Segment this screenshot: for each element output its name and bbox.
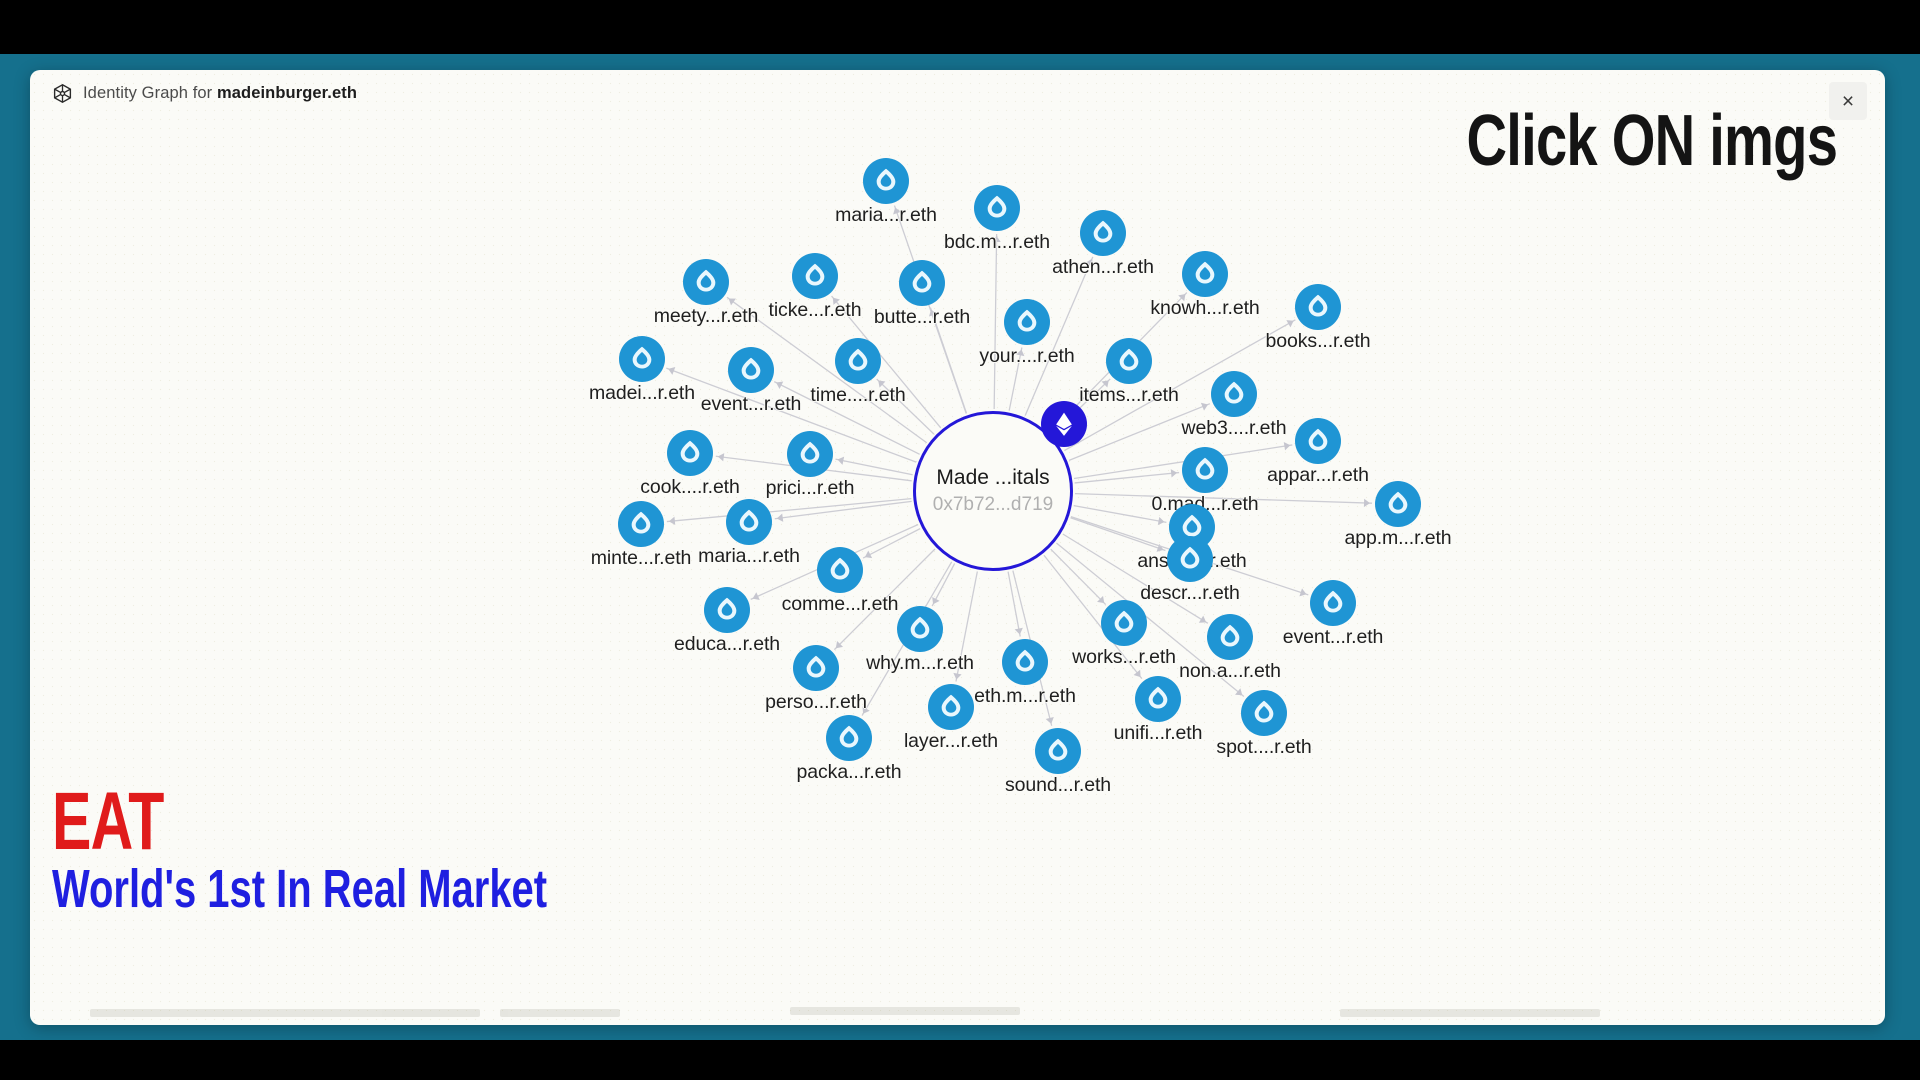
graph-node[interactable]: spot....r.eth	[1241, 690, 1287, 736]
close-glyph: ×	[1842, 91, 1854, 112]
graph-node-label: cook....r.eth	[640, 476, 740, 499]
graph-node-label: madei...r.eth	[589, 382, 695, 405]
graph-node[interactable]: sound...r.eth	[1035, 728, 1081, 774]
letterbox-bottom	[0, 1040, 1920, 1080]
ethereum-diamond-icon	[974, 185, 1020, 231]
ethereum-diamond-icon[interactable]	[792, 253, 838, 299]
graph-node[interactable]: butte...r.eth	[899, 260, 945, 306]
graph-node[interactable]: bdc.m...r.eth	[974, 185, 1020, 231]
ethereum-diamond-icon	[1375, 481, 1421, 527]
letterbox-top	[0, 0, 1920, 54]
graph-node-label: sound...r.eth	[1005, 774, 1111, 797]
ethereum-diamond-icon	[1135, 676, 1181, 722]
graph-node[interactable]: packa...r.eth	[826, 715, 872, 761]
graph-node-label: non.a...r.eth	[1179, 660, 1281, 683]
graph-node-label: athen...r.eth	[1052, 256, 1154, 279]
brand-overlay: EAT World's 1st In Real Market	[52, 784, 721, 917]
graph-node-label: perso...r.eth	[765, 691, 867, 714]
ethereum-diamond-icon[interactable]	[1207, 614, 1253, 660]
ethereum-diamond-icon	[1041, 401, 1087, 447]
ethereum-diamond-icon	[1211, 371, 1257, 417]
graph-node-label: eth.m...r.eth	[974, 685, 1076, 708]
graph-node-label: your....r.eth	[979, 345, 1074, 368]
ethereum-diamond-icon	[793, 645, 839, 691]
ethereum-diamond-icon	[1035, 728, 1081, 774]
ethereum-diamond-icon	[726, 499, 772, 545]
ethereum-diamond-icon	[667, 430, 713, 476]
ethereum-diamond-icon	[683, 259, 729, 305]
graph-node-label: event...r.eth	[1283, 626, 1384, 649]
ethereum-diamond-icon[interactable]	[1295, 284, 1341, 330]
ethereum-diamond-icon[interactable]	[826, 715, 872, 761]
ethereum-diamond-icon[interactable]	[726, 499, 772, 545]
graph-node-label: meety...r.eth	[654, 305, 759, 328]
ethereum-diamond-icon[interactable]	[1182, 447, 1228, 493]
graph-node-label: knowh...r.eth	[1150, 297, 1259, 320]
ethereum-diamond-icon	[787, 431, 833, 477]
ethereum-diamond-icon[interactable]	[1080, 210, 1126, 256]
ethereum-badge-glyph	[1050, 410, 1078, 438]
graph-node-label: descr...r.eth	[1140, 582, 1240, 605]
graph-node[interactable]: perso...r.eth	[793, 645, 839, 691]
graph-node[interactable]: eth.m...r.eth	[1002, 639, 1048, 685]
graph-node-label: layer...r.eth	[904, 730, 998, 753]
ethereum-diamond-icon	[704, 587, 750, 633]
ethereum-diamond-icon[interactable]	[817, 547, 863, 593]
ethereum-diamond-icon	[835, 338, 881, 384]
ethereum-diamond-icon[interactable]	[1295, 418, 1341, 464]
screen: Identity Graph for madeinburger.eth × Ma…	[0, 0, 1920, 1080]
graph-node-label: items...r.eth	[1079, 384, 1179, 407]
graph-node[interactable]: athen...r.eth	[1080, 210, 1126, 256]
center-node[interactable]: Made ...itals 0x7b72...d719	[913, 411, 1073, 571]
graph-node[interactable]: educa...r.eth	[704, 587, 750, 633]
graph-node[interactable]: why.m...r.eth	[897, 606, 943, 652]
ethereum-diamond-icon	[728, 347, 774, 393]
ethereum-diamond-icon[interactable]	[667, 430, 713, 476]
ethereum-diamond-icon	[897, 606, 943, 652]
ethereum-diamond-icon	[1310, 580, 1356, 626]
ethereum-diamond-icon[interactable]	[683, 259, 729, 305]
ethereum-diamond-icon	[1295, 418, 1341, 464]
center-node-address: 0x7b72...d719	[933, 494, 1053, 516]
ethereum-diamond-icon[interactable]	[1182, 251, 1228, 297]
graph-node[interactable]: madei...r.eth	[619, 336, 665, 382]
ethereum-diamond-icon[interactable]	[1310, 580, 1356, 626]
graph-node-label: web3....r.eth	[1182, 417, 1287, 440]
hexagon-network-icon	[52, 83, 73, 104]
graph-node-label: appar...r.eth	[1267, 464, 1369, 487]
graph-node[interactable]: 0.mad...r.eth	[1182, 447, 1228, 493]
graph-node[interactable]: cook....r.eth	[667, 430, 713, 476]
graph-node-label: books...r.eth	[1266, 330, 1371, 353]
graph-node[interactable]: comme...r.eth	[817, 547, 863, 593]
ethereum-diamond-icon	[928, 684, 974, 730]
brand-title: EAT	[52, 784, 534, 859]
header-prefix: Identity Graph for	[83, 84, 217, 102]
graph-node-label: unifi...r.eth	[1114, 722, 1203, 745]
ethereum-diamond-icon[interactable]	[704, 587, 750, 633]
ethereum-diamond-icon[interactable]	[1106, 338, 1152, 384]
graph-node-label: maria...r.eth	[835, 204, 937, 227]
ethereum-diamond-icon	[1182, 251, 1228, 297]
ethereum-diamond-icon[interactable]	[793, 645, 839, 691]
graph-node[interactable]: books...r.eth	[1295, 284, 1341, 330]
graph-node[interactable]: unifi...r.eth	[1135, 676, 1181, 722]
ethereum-diamond-icon	[826, 715, 872, 761]
graph-node[interactable]: event...r.eth	[1310, 580, 1356, 626]
graph-node-label: event...r.eth	[701, 393, 802, 416]
graph-node[interactable]: maria...r.eth	[726, 499, 772, 545]
graph-node-label: comme...r.eth	[782, 593, 899, 616]
ethereum-diamond-icon	[1207, 614, 1253, 660]
graph-node[interactable]: items...r.eth	[1106, 338, 1152, 384]
ethereum-diamond-icon	[1182, 447, 1228, 493]
graph-node[interactable]: descr...r.eth	[1167, 536, 1213, 582]
ethereum-diamond-icon[interactable]	[787, 431, 833, 477]
graph-node-label: minte...r.eth	[591, 547, 692, 570]
graph-node-label: educa...r.eth	[674, 633, 780, 656]
graph-node[interactable]: prici...r.eth	[787, 431, 833, 477]
page-title: Identity Graph for madeinburger.eth	[83, 84, 357, 103]
identity-graph-modal: Identity Graph for madeinburger.eth × Ma…	[30, 70, 1885, 1025]
ethereum-diamond-icon	[1241, 690, 1287, 736]
ethereum-diamond-icon[interactable]	[1101, 600, 1147, 646]
center-node-name: Made ...itals	[936, 466, 1049, 490]
ethereum-diamond-icon	[792, 253, 838, 299]
ethereum-diamond-icon[interactable]	[1167, 536, 1213, 582]
ethereum-diamond-icon	[1101, 600, 1147, 646]
ethereum-diamond-icon[interactable]	[1211, 371, 1257, 417]
graph-node[interactable]: appar...r.eth	[1295, 418, 1341, 464]
graph-node[interactable]: ticke...r.eth	[792, 253, 838, 299]
ethereum-diamond-icon[interactable]	[928, 684, 974, 730]
ethereum-diamond-icon	[619, 336, 665, 382]
graph-node-label: ticke...r.eth	[769, 299, 862, 322]
graph-node[interactable]: layer...r.eth	[928, 684, 974, 730]
ethereum-diamond-icon	[1295, 284, 1341, 330]
ethereum-diamond-icon[interactable]	[728, 347, 774, 393]
click-hint-overlay: Click ON imgs	[1466, 100, 1837, 182]
ethereum-diamond-icon	[899, 260, 945, 306]
ethereum-diamond-icon[interactable]	[1002, 639, 1048, 685]
ethereum-diamond-icon[interactable]	[619, 336, 665, 382]
graph-node-label: butte...r.eth	[874, 306, 970, 329]
ethereum-diamond-icon	[1004, 299, 1050, 345]
graph-node-label: spot....r.eth	[1216, 736, 1311, 759]
graph-node[interactable]: minte...r.eth	[618, 501, 664, 547]
ethereum-diamond-icon[interactable]	[897, 606, 943, 652]
graph-node[interactable]: app.m...r.eth	[1375, 481, 1421, 527]
graph-node[interactable]: meety...r.eth	[683, 259, 729, 305]
graph-node-label: bdc.m...r.eth	[944, 231, 1050, 254]
graph-node[interactable]: web3....r.eth	[1211, 371, 1257, 417]
graph-node-label: prici...r.eth	[766, 477, 855, 500]
ethereum-diamond-icon[interactable]	[899, 260, 945, 306]
ethereum-diamond-icon	[1106, 338, 1152, 384]
graph-node[interactable]: non.a...r.eth	[1207, 614, 1253, 660]
ethereum-diamond-icon[interactable]	[863, 158, 909, 204]
ethereum-diamond-icon[interactable]	[1241, 690, 1287, 736]
graph-node-label: time....r.eth	[810, 384, 905, 407]
ethereum-diamond-icon[interactable]	[974, 185, 1020, 231]
graph-node-label: app.m...r.eth	[1344, 527, 1451, 550]
ethereum-diamond-icon[interactable]	[1035, 728, 1081, 774]
ethereum-diamond-icon	[817, 547, 863, 593]
ethereum-diamond-icon	[863, 158, 909, 204]
ethereum-diamond-icon[interactable]	[1004, 299, 1050, 345]
graph-node-label: why.m...r.eth	[866, 652, 974, 675]
ethereum-diamond-icon	[1002, 639, 1048, 685]
ethereum-diamond-icon	[1167, 536, 1213, 582]
ethereum-diamond-icon	[1080, 210, 1126, 256]
graph-node[interactable]: knowh...r.eth	[1182, 251, 1228, 297]
graph-node-label: works...r.eth	[1072, 646, 1176, 669]
graph-node[interactable]: event...r.eth	[728, 347, 774, 393]
graph-node[interactable]: time....r.eth	[835, 338, 881, 384]
header-subject: madeinburger.eth	[217, 84, 357, 102]
brand-tagline: World's 1st In Real Market	[52, 862, 547, 917]
graph-node-label: packa...r.eth	[797, 761, 902, 784]
ethereum-diamond-icon[interactable]	[618, 501, 664, 547]
graph-node[interactable]: your....r.eth	[1004, 299, 1050, 345]
graph-node[interactable]: works...r.eth	[1101, 600, 1147, 646]
ethereum-diamond-icon[interactable]	[835, 338, 881, 384]
ethereum-diamond-icon	[618, 501, 664, 547]
graph-node[interactable]: maria...r.eth	[863, 158, 909, 204]
ethereum-diamond-icon[interactable]	[1135, 676, 1181, 722]
ethereum-diamond-icon[interactable]	[1375, 481, 1421, 527]
graph-node-label: maria...r.eth	[698, 545, 800, 568]
